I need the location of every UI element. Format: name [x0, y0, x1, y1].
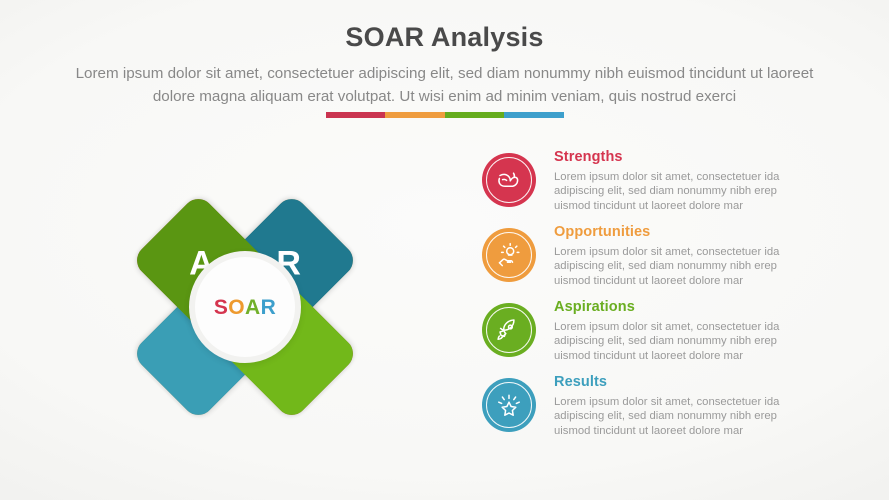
center-soar-label: SOAR [214, 297, 276, 318]
opportunities-body: Lorem ipsum dolor sit amet, consectetuer… [554, 245, 812, 288]
results-body: Lorem ipsum dolor sit amet, consectetuer… [554, 395, 812, 438]
list-item-strengths[interactable]: Strengths Lorem ipsum dolor sit amet, co… [478, 150, 878, 225]
opportunities-heading: Opportunities [554, 225, 878, 241]
page-subtitle: Lorem ipsum dolor sit amet, consectetuer… [60, 62, 830, 108]
diagram-center-disc: SOAR [189, 251, 301, 363]
aspirations-heading: Aspirations [554, 300, 878, 316]
divider-segment-4 [504, 112, 564, 118]
divider-segment-1 [326, 112, 386, 118]
strengths-badge [482, 153, 536, 207]
soar-legend-list: Strengths Lorem ipsum dolor sit amet, co… [478, 150, 878, 450]
rocket-icon [495, 316, 523, 344]
accent-divider [326, 112, 564, 118]
strengths-body: Lorem ipsum dolor sit amet, consectetuer… [554, 170, 812, 213]
hand-lightbulb-icon [495, 241, 523, 269]
opportunities-badge [482, 228, 536, 282]
list-item-results[interactable]: Results Lorem ipsum dolor sit amet, cons… [478, 375, 878, 450]
soar-x-diagram: S O R A SOAR [90, 152, 400, 462]
divider-segment-3 [445, 112, 505, 118]
page-title: SOAR Analysis [0, 22, 889, 53]
results-heading: Results [554, 375, 878, 391]
results-badge [482, 378, 536, 432]
aspirations-badge [482, 303, 536, 357]
slide-canvas: SOAR Analysis Lorem ipsum dolor sit amet… [0, 0, 889, 500]
aspirations-body: Lorem ipsum dolor sit amet, consectetuer… [554, 320, 812, 363]
strengths-heading: Strengths [554, 150, 878, 166]
list-item-opportunities[interactable]: Opportunities Lorem ipsum dolor sit amet… [478, 225, 878, 300]
divider-segment-2 [385, 112, 445, 118]
shining-star-icon [495, 391, 523, 419]
list-item-aspirations[interactable]: Aspirations Lorem ipsum dolor sit amet, … [478, 300, 878, 375]
flexed-bicep-icon [495, 166, 523, 194]
